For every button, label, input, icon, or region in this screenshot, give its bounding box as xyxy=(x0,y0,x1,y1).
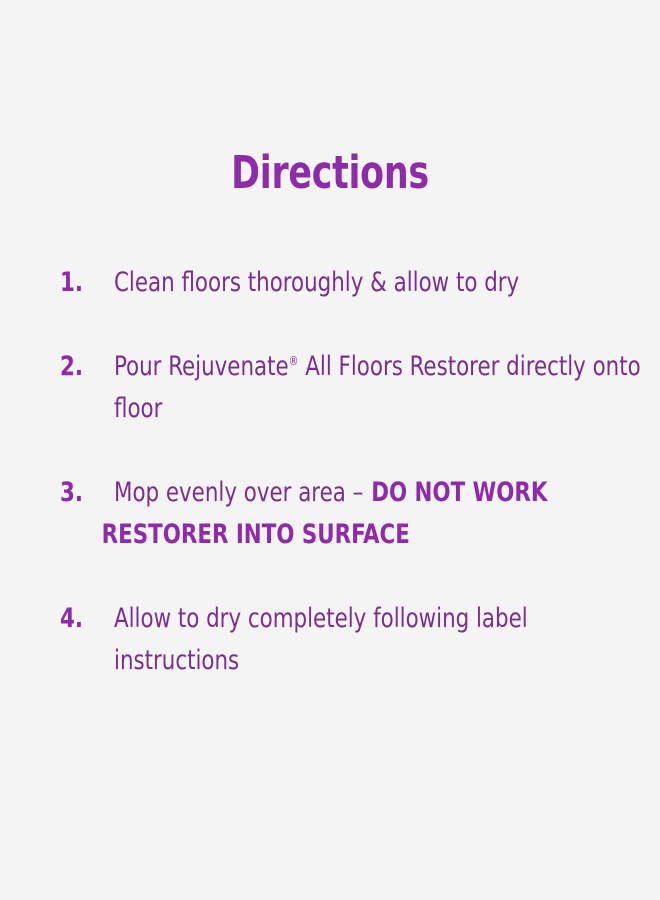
step-4-lead: Allow to dry completely following label xyxy=(114,603,528,634)
list-item: 2. Pour Rejuvenate® All Floors Restorer … xyxy=(60,346,605,430)
step-number-2: 2. xyxy=(60,346,97,388)
step-2-mid: All Floors Restorer xyxy=(298,351,499,382)
page-title: Directions xyxy=(46,148,614,198)
directions-list: 1. Clean floors thoroughly & allow to dr… xyxy=(60,262,605,682)
step-text-2: Pour Rejuvenate® All Floors Restorer dir… xyxy=(114,346,656,430)
step-number-3: 3. xyxy=(60,472,97,514)
list-item: 3. Mop evenly over area – DO NOT WORK RE… xyxy=(60,472,605,556)
step-4-wrap: instructions xyxy=(114,645,239,676)
step-3-lead: Mop evenly over area xyxy=(114,477,353,508)
step-text-3: Mop evenly over area – DO NOT WORK RESTO… xyxy=(114,472,656,556)
list-item: 4. Allow to dry completely following lab… xyxy=(60,598,605,682)
step-text-1: Clean floors thoroughly & allow to dry xyxy=(114,262,656,304)
list-item: 1. Clean floors thoroughly & allow to dr… xyxy=(60,262,605,304)
registered-trademark-icon: ® xyxy=(289,353,299,368)
step-text-4: Allow to dry completely following label … xyxy=(114,598,656,682)
step-3-dash: – xyxy=(353,477,364,508)
step-2-lead: Pour Rejuvenate xyxy=(114,351,289,382)
step-number-1: 1. xyxy=(60,262,97,304)
step-3-emphasis: DO NOT WORK xyxy=(364,477,548,508)
step-number-4: 4. xyxy=(60,598,97,640)
step-3-emphasis-wrap: RESTORER INTO SURFACE xyxy=(102,514,656,556)
directions-panel: Directions 1. Clean floors thoroughly & … xyxy=(0,0,660,900)
